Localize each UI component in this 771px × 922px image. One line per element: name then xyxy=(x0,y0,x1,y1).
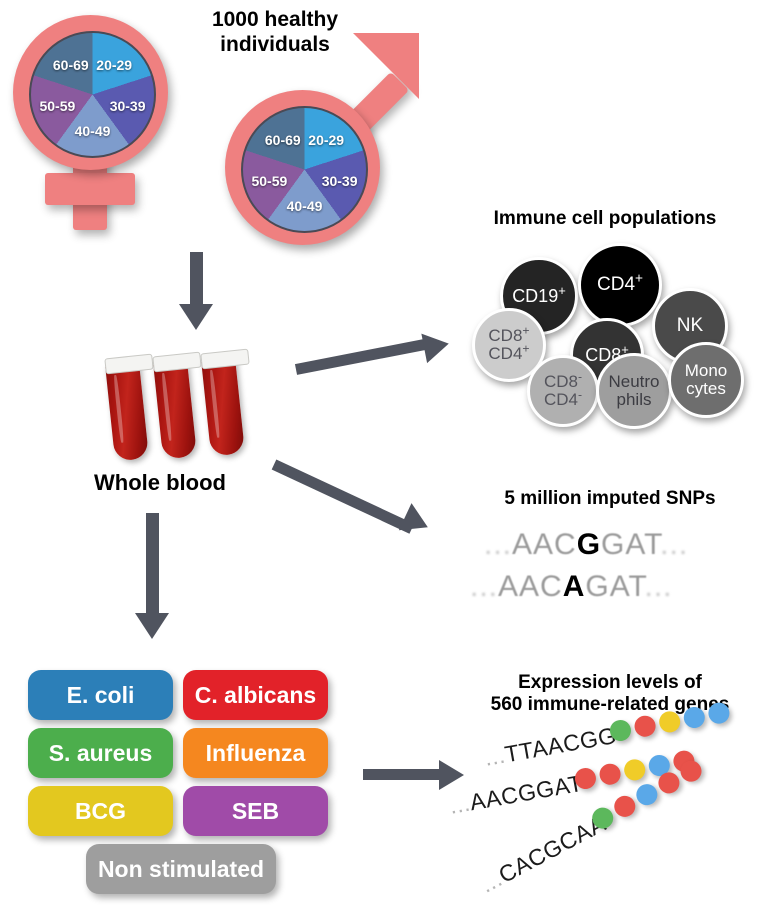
immune-cell-neutrophils: Neutrophils xyxy=(596,353,672,429)
stimulus-box-non-stimulated[interactable]: Non stimulated xyxy=(86,844,276,894)
immune-cell-cd8cd4: CD8-CD4- xyxy=(527,355,599,427)
gene-strand-sequence: ...AACGGAT xyxy=(447,770,585,820)
snp-suffix-ellipsis: ... xyxy=(660,528,688,561)
immune-cell-label: CD4+ xyxy=(597,275,643,295)
blood-tube-body xyxy=(153,358,197,459)
snp-flank-right: GAT xyxy=(585,570,644,603)
blood-tube-lip xyxy=(104,354,153,375)
gene-expression-strands: ...TTAACGG...AACGGAT...CACGCAA xyxy=(455,720,771,915)
arrow-head xyxy=(179,304,213,330)
blood-tube-lip xyxy=(152,352,201,373)
stimulus-label: Influenza xyxy=(206,740,306,767)
snp-sequence-row: ...AACGGAT... xyxy=(484,528,688,562)
blood-tube-body xyxy=(105,360,149,461)
immune-cell-label: Neutrophils xyxy=(608,373,659,409)
female-age-label-60-69: 60-69 xyxy=(53,57,89,73)
snp-prefix-ellipsis: ... xyxy=(470,570,498,603)
female-age-label-50-59: 50-59 xyxy=(39,98,75,114)
female-age-pie-chart: 20-2930-3940-4950-5960-69 xyxy=(29,31,156,158)
immune-cell-label: CD8+ xyxy=(585,346,629,365)
stimulus-label: C. albicans xyxy=(195,682,316,709)
male-gender-symbol: 20-2930-3940-4950-5960-69 xyxy=(210,35,430,250)
stimulus-label: S. aureus xyxy=(49,740,153,767)
male-age-label-40-49: 40-49 xyxy=(287,198,323,214)
stimulus-box-bcg[interactable]: BCG xyxy=(28,786,173,836)
stimulus-label: SEB xyxy=(232,798,279,825)
blood-tube-lip xyxy=(200,349,249,370)
immune-cell-cd8cd4: CD8+CD4+ xyxy=(472,308,546,382)
gene-strand-sequence: ...TTAACGG xyxy=(482,722,618,772)
female-symbol-stem-horizontal xyxy=(45,173,135,205)
whole-blood-label: Whole blood xyxy=(60,470,260,496)
immune-cell-cd19: CD19+ xyxy=(500,257,578,335)
snp-sequence-row: ...AACAGAT... xyxy=(470,570,673,604)
snp-flank-left: AAC xyxy=(512,528,577,561)
whole-blood-tubes xyxy=(100,340,275,460)
immune-cell-monocytes: Monocytes xyxy=(668,342,744,418)
male-age-label-30-39: 30-39 xyxy=(322,173,358,189)
stimulus-box-seb[interactable]: SEB xyxy=(183,786,328,836)
blood-tube xyxy=(153,358,197,459)
male-age-label-20-29: 20-29 xyxy=(308,132,344,148)
snp-flank-right: GAT xyxy=(601,528,660,561)
snp-sequence-block: ...AACGGAT......AACAGAT... xyxy=(470,528,760,618)
immune-cell-cd8: CD8+ xyxy=(570,318,644,392)
gene-strand-sequence: ...CACGCAA xyxy=(476,810,610,899)
gene-strand-prefix: ... xyxy=(476,865,506,898)
snp-prefix-ellipsis: ... xyxy=(484,528,512,561)
male-age-label-60-69: 60-69 xyxy=(265,132,301,148)
blood-tube-body xyxy=(201,355,245,456)
snp-variant-base: A xyxy=(563,570,586,603)
male-age-label-50-59: 50-59 xyxy=(251,173,287,189)
gene-expression-bead xyxy=(632,781,660,809)
stimuli-condition-list: E. coliC. albicansS. aureusInfluenzaBCGS… xyxy=(28,670,348,900)
immune-cell-nk: NK xyxy=(652,288,728,364)
section-title-immune-cells: Immune cell populations xyxy=(455,208,755,230)
arrow-shaft xyxy=(295,338,431,375)
female-age-label-30-39: 30-39 xyxy=(110,98,146,114)
gene-strand-prefix: ... xyxy=(447,790,472,819)
snp-variant-base: G xyxy=(577,528,601,561)
arrow-shaft xyxy=(146,513,159,619)
immune-cell-label: NK xyxy=(677,316,703,336)
immune-cell-label: CD19+ xyxy=(512,287,566,306)
immune-cell-label: CD8-CD4- xyxy=(544,373,582,409)
arrow-head xyxy=(399,503,434,541)
stimulus-box-e-coli[interactable]: E. coli xyxy=(28,670,173,720)
immune-cell-label: Monocytes xyxy=(685,362,728,398)
blood-tube xyxy=(201,355,245,456)
gene-expression-bead xyxy=(622,758,646,782)
arrow-head xyxy=(421,329,451,363)
immune-cell-cd4: CD4+ xyxy=(578,243,662,327)
female-age-label-20-29: 20-29 xyxy=(96,57,132,73)
stimulus-box-c-albicans[interactable]: C. albicans xyxy=(183,670,328,720)
arrow-shaft xyxy=(363,769,443,780)
immune-cell-label: CD8+CD4+ xyxy=(488,327,529,363)
gene-expression-bead xyxy=(632,714,656,738)
snp-flank-left: AAC xyxy=(498,570,563,603)
gene-expression-bead xyxy=(597,762,621,786)
female-age-label-40-49: 40-49 xyxy=(75,123,111,139)
gene-strand-prefix: ... xyxy=(482,742,507,771)
gene-expression-bead xyxy=(610,792,638,820)
female-gender-symbol: 20-2930-3940-4950-5960-69 xyxy=(0,5,215,235)
arrow-head xyxy=(135,613,169,639)
stimulus-label: E. coli xyxy=(67,682,135,709)
stimulus-box-s-aureus[interactable]: S. aureus xyxy=(28,728,173,778)
stimulus-label: BCG xyxy=(75,798,126,825)
male-age-pie-chart: 20-2930-3940-4950-5960-69 xyxy=(241,106,368,233)
stimulus-label: Non stimulated xyxy=(98,856,264,883)
arrow-shaft xyxy=(190,252,203,310)
stimulus-box-influenza[interactable]: Influenza xyxy=(183,728,328,778)
arrow-shaft xyxy=(272,460,414,534)
blood-tube xyxy=(105,360,149,461)
section-title-snps: 5 million imputed SNPs xyxy=(460,488,760,510)
snp-suffix-ellipsis: ... xyxy=(645,570,673,603)
